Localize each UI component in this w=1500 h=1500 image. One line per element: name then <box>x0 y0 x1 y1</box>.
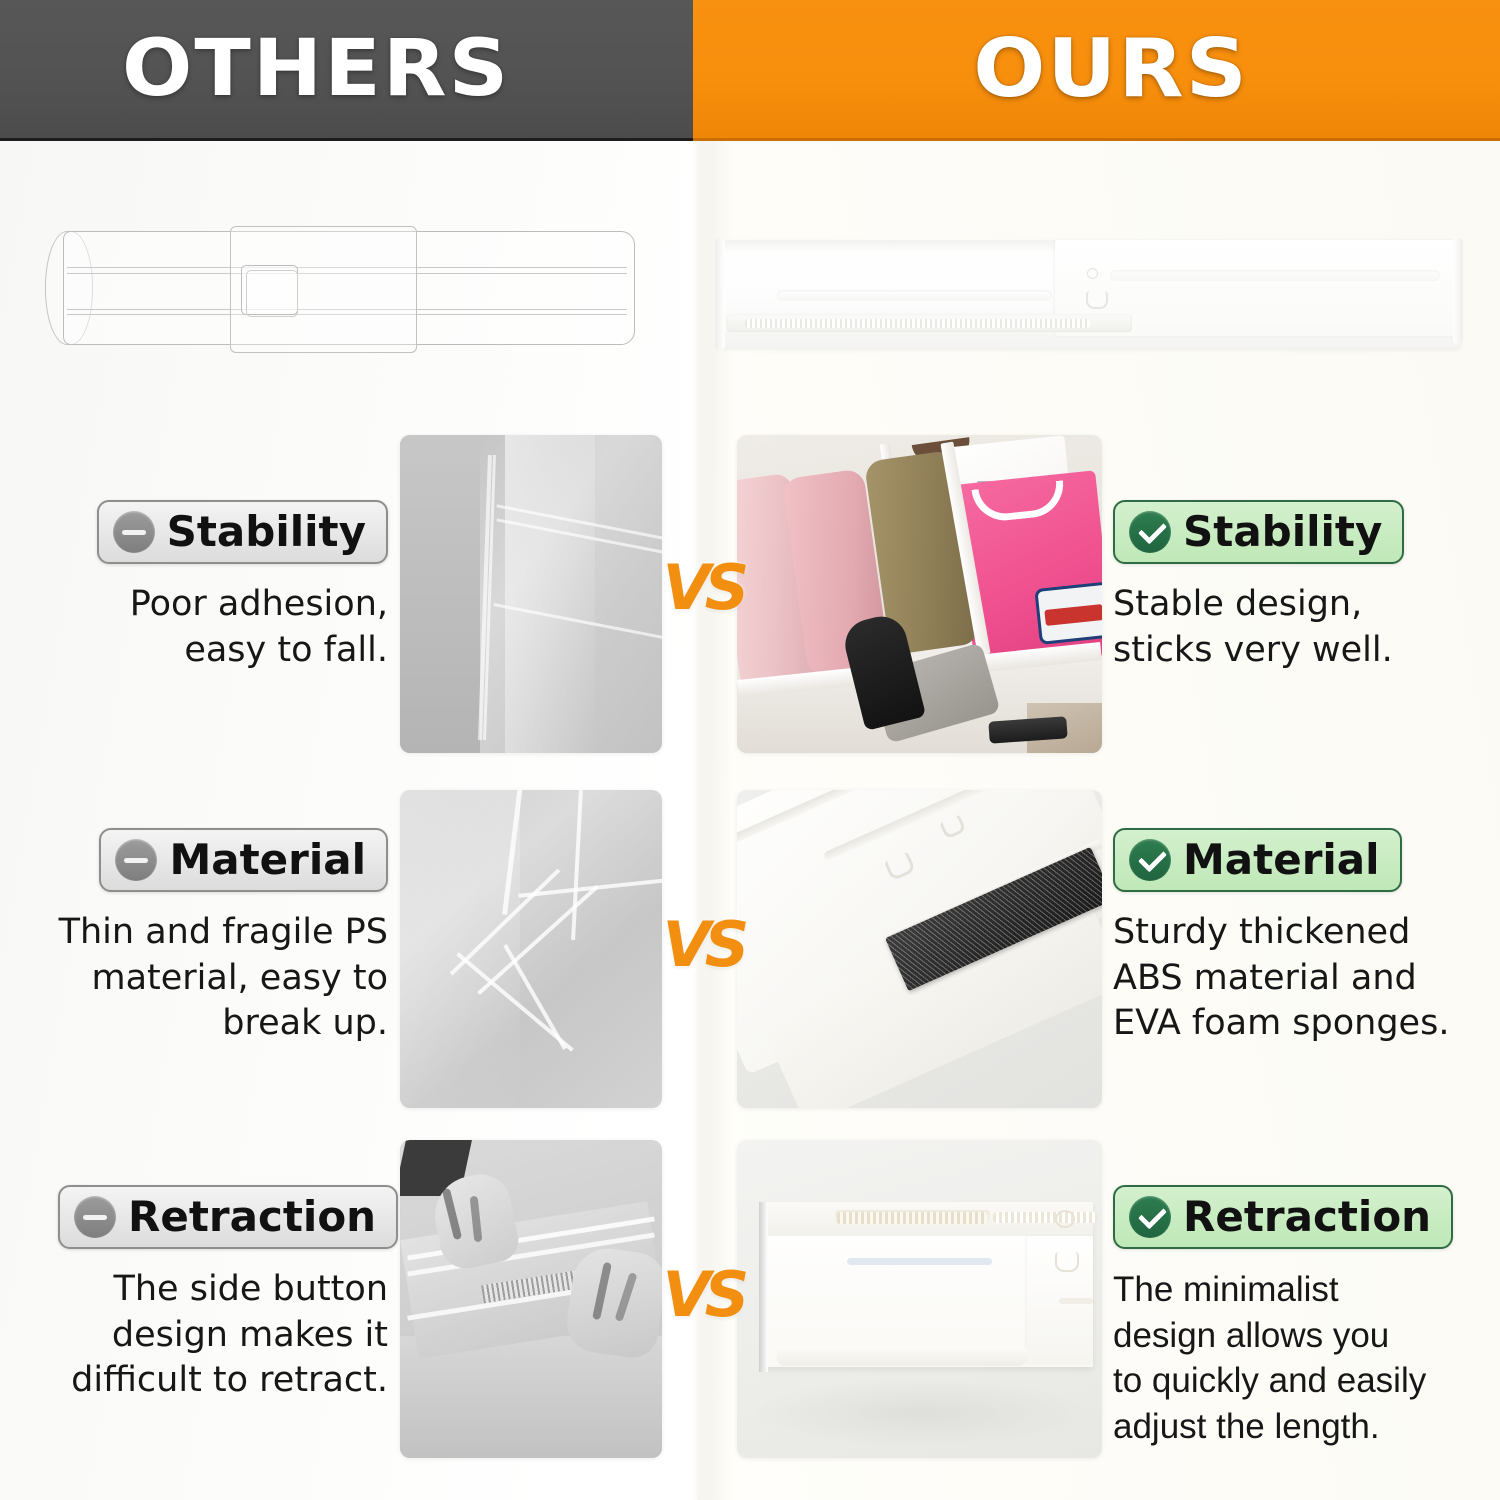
check-circle-icon <box>1129 839 1171 881</box>
check-circle-icon <box>1129 1196 1171 1238</box>
vs-badge-stability: VS <box>662 546 744 628</box>
badge-label: Retraction <box>128 1196 376 1238</box>
text-block-retraction-ours: Retraction The minimalist design allows … <box>1113 1185 1473 1449</box>
check-circle-icon <box>1129 511 1171 553</box>
divider-end-cap-right <box>1453 238 1463 344</box>
badge-material-ours: Material <box>1113 828 1402 892</box>
row-retraction-image-others <box>400 1140 662 1458</box>
badge-label: Retraction <box>1183 1196 1431 1238</box>
header-bar: OTHERS OURS <box>0 0 1500 138</box>
divider-pin <box>1087 268 1098 279</box>
text-block-stability-others: Stability Poor adhesion, easy to fall. <box>58 500 388 673</box>
badge-retraction-others: Retraction <box>58 1185 398 1249</box>
comparison-infographic: OTHERS OURS <box>0 0 1500 1500</box>
text-block-material-ours: Material Sturdy thickened ABS material a… <box>1113 828 1473 1047</box>
row-material-image-others <box>400 790 662 1108</box>
description-text: The side button design makes it difficul… <box>58 1267 388 1404</box>
divider-track-teeth <box>745 319 1090 328</box>
description-text: The minimalist design allows you to quic… <box>1113 1267 1473 1449</box>
badge-retraction-ours: Retraction <box>1113 1185 1453 1249</box>
row-stability-image-ours <box>737 435 1102 753</box>
description-text: Sturdy thickened ABS material and EVA fo… <box>1113 910 1473 1047</box>
divider-side-button-inner <box>246 270 298 317</box>
hero-image-others <box>45 205 645 370</box>
text-block-retraction-others: Retraction The side button design makes … <box>58 1185 388 1404</box>
divider-top-rail <box>719 240 1059 254</box>
header-ours: OURS <box>693 0 1500 141</box>
header-others-title: OTHERS <box>122 30 510 108</box>
minus-circle-icon <box>74 1196 116 1238</box>
badge-stability-others: Stability <box>97 500 388 564</box>
divider-slot <box>1110 270 1440 281</box>
badge-material-others: Material <box>99 828 388 892</box>
badge-label: Material <box>1183 839 1380 881</box>
badge-label: Material <box>169 839 366 881</box>
badge-label: Stability <box>167 511 366 553</box>
row-retraction-image-ours <box>737 1140 1102 1458</box>
header-ours-title: OURS <box>974 29 1250 109</box>
description-text: Thin and fragile PS material, easy to br… <box>58 910 388 1047</box>
description-text: Poor adhesion, easy to fall. <box>58 582 388 673</box>
minus-circle-icon <box>115 839 157 881</box>
text-block-stability-ours: Stability Stable design, sticks very wel… <box>1113 500 1473 673</box>
header-others: OTHERS <box>0 0 693 141</box>
description-text: Stable design, sticks very well. <box>1113 582 1473 673</box>
row-stability-image-others <box>400 435 662 753</box>
divider-end-cap-left <box>715 238 725 350</box>
divider-slot <box>777 290 1052 301</box>
divider-hook <box>1086 291 1108 309</box>
badge-label: Stability <box>1183 511 1382 553</box>
vs-badge-retraction: VS <box>662 1253 744 1335</box>
minus-circle-icon <box>113 511 155 553</box>
text-block-material-others: Material Thin and fragile PS material, e… <box>58 828 388 1047</box>
vs-badge-material: VS <box>662 903 744 985</box>
row-material-image-ours <box>737 790 1102 1108</box>
hero-image-ours <box>705 218 1465 358</box>
badge-stability-ours: Stability <box>1113 500 1404 564</box>
